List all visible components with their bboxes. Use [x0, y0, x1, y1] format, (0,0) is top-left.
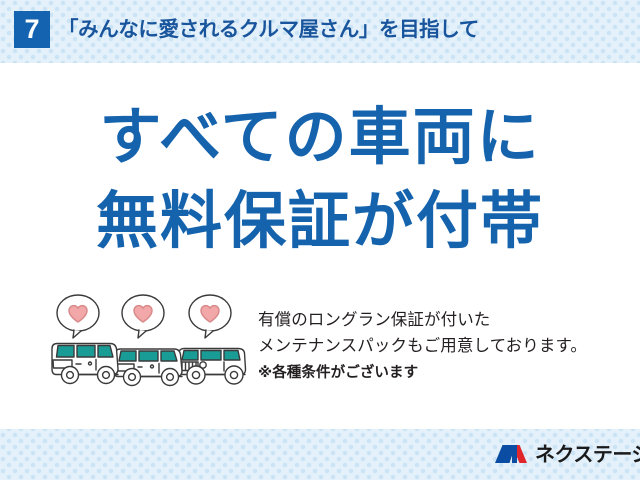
- header-step-badge: 7: [14, 11, 50, 48]
- headline-line-1: すべての車両に: [0, 95, 640, 179]
- headline-line-2: 無料保証が付帯: [0, 179, 640, 263]
- cars-illustration: [48, 291, 254, 399]
- body-copy-block: 有償のロングラン保証が付いた メンテナンスパックもご用意しております。 ※各種条…: [258, 307, 630, 385]
- vehicle-minivan: [114, 349, 182, 386]
- heart-bubble-1: [57, 295, 99, 338]
- vehicle-suv: [179, 349, 246, 385]
- body-copy-line-2: メンテナンスパックもご用意しております。: [258, 333, 630, 359]
- headline-block: すべての車両に 無料保証が付帯: [0, 95, 640, 263]
- nextage-n-mark-icon: [494, 442, 528, 466]
- vehicle-kei-car: [52, 344, 118, 384]
- brand-name: ネクステージ: [535, 440, 640, 468]
- body-copy-note: ※各種条件がございます: [258, 361, 630, 385]
- content-panel: すべての車両に 無料保証が付帯: [0, 63, 640, 429]
- heart-bubble-3: [189, 295, 231, 338]
- header-bar: 7 「みんなに愛されるクルマ屋さん」を目指して: [0, 0, 640, 63]
- brand-logo: ネクステージ: [494, 440, 640, 468]
- heart-bubble-2: [122, 295, 164, 338]
- body-copy-line-1: 有償のロングラン保証が付いた: [258, 307, 630, 333]
- header-title: 「みんなに愛されるクルマ屋さん」を目指して: [58, 13, 479, 45]
- cars-illustration-svg: [48, 291, 254, 399]
